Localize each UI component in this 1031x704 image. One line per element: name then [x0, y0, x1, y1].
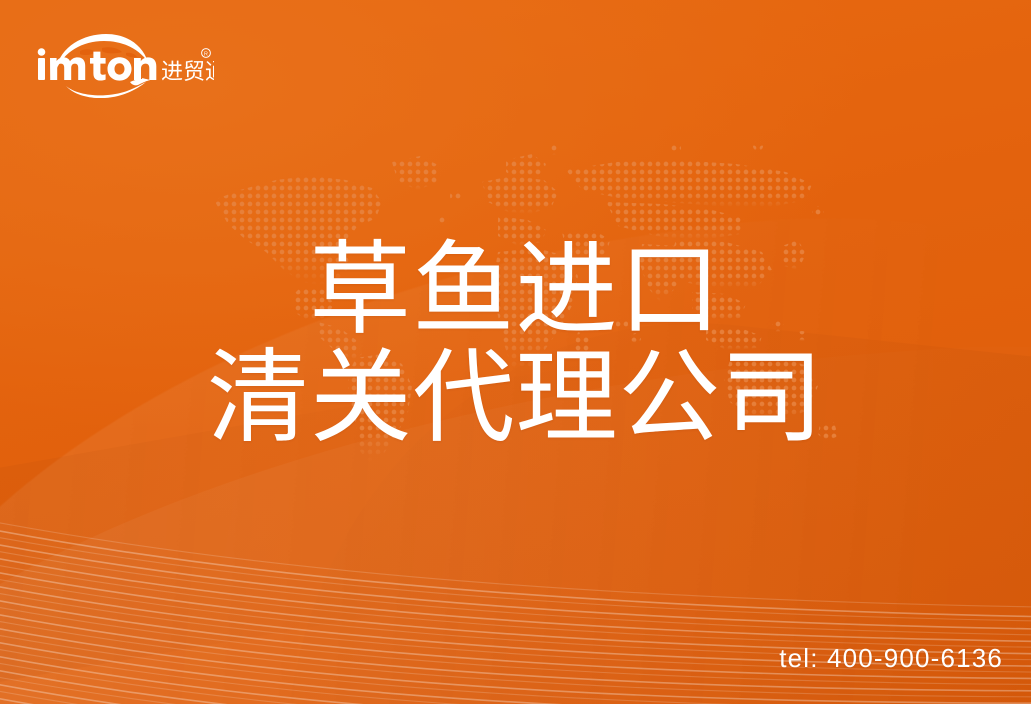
brand-logo[interactable]: 进贸通 R — [34, 28, 214, 98]
svg-text:R: R — [204, 52, 208, 58]
logo-chinese-name: 进贸通 — [161, 60, 214, 85]
logo-wordmark — [38, 48, 157, 80]
fish-swoosh-icon — [66, 78, 150, 98]
promo-banner: 进贸通 R 草鱼进口 清关代理公司 — [0, 0, 1031, 704]
headline-line-1: 草鱼进口 — [0, 236, 1031, 344]
contact-phone[interactable]: tel: 400-900-6136 — [779, 643, 1003, 674]
headline: 草鱼进口 清关代理公司 — [0, 236, 1031, 452]
headline-line-2: 清关代理公司 — [0, 344, 1031, 452]
